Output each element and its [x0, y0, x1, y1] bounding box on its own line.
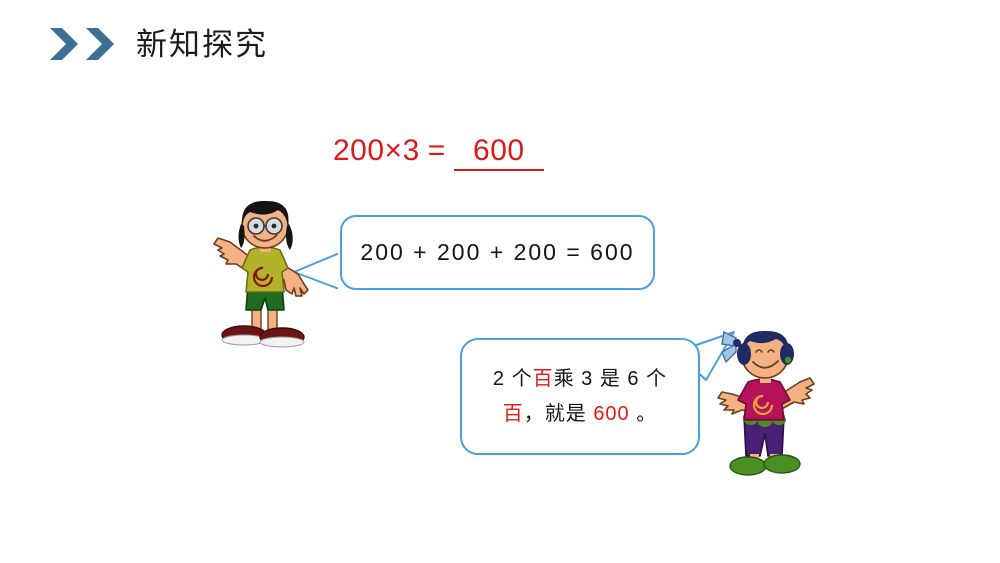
- bubble-2-line-1: 2 个百乘 3 是 6 个: [493, 362, 667, 397]
- equation-line: 200×3=600: [333, 134, 544, 171]
- speech-bubble-explanation: 2 个百乘 3 是 6 个 百，就是 600 。: [460, 338, 700, 455]
- bubble-2-l2-seg1: 百: [503, 403, 524, 425]
- equation-answer-blank: 600: [454, 134, 544, 171]
- bubble-2-l1-seg1: 2 个: [493, 368, 533, 390]
- bubble-2-line-2: 百，就是 600 。: [503, 397, 658, 432]
- speech-bubble-addition: 200 + 200 + 200 = 600: [340, 215, 655, 290]
- page-title: 新知探究: [136, 29, 268, 60]
- bubble-2-l2-seg2: ，就是: [524, 403, 594, 425]
- bubble-2-l2-seg4: 。: [630, 403, 658, 425]
- bubble-1-text: 200 + 200 + 200 = 600: [360, 239, 634, 266]
- character-girl-with-glasses: [208, 198, 320, 350]
- double-chevron-right-icon: [48, 26, 118, 62]
- bubble-2-l1-seg2: 百: [533, 368, 554, 390]
- slide-canvas: 新知探究 200×3=600 200 + 200 + 200 = 600 2 个…: [0, 0, 1000, 563]
- bubble-2-l2-seg3: 600: [593, 403, 629, 425]
- equation-operator: =: [428, 134, 446, 167]
- bubble-2-l1-seg3: 乘 3 是 6 个: [554, 368, 667, 390]
- character-girl-with-bow: [708, 330, 820, 482]
- slide-header: 新知探究: [48, 26, 268, 62]
- equation-expression: 200×3: [333, 134, 420, 167]
